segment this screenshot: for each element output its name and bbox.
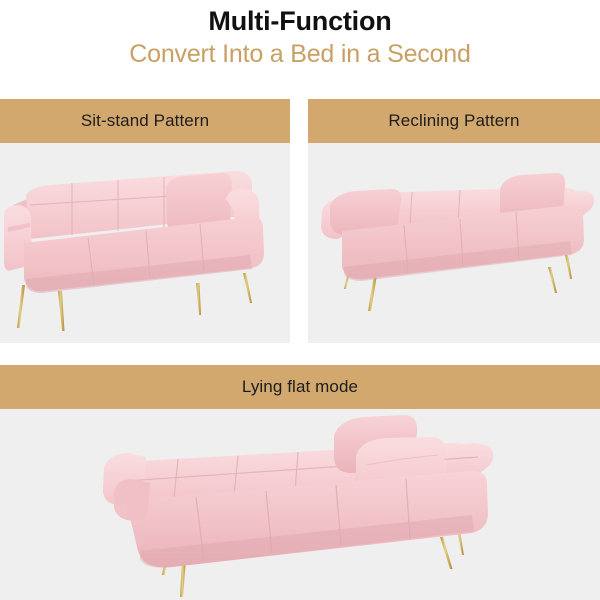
- label-bar-lying-flat: Lying flat mode: [0, 365, 600, 409]
- photo-sit-stand: [0, 143, 290, 343]
- label-bar-reclining: Reclining Pattern: [308, 99, 600, 143]
- sofa-illustration-sit-stand: [0, 143, 290, 343]
- panel-sit-stand: Sit-stand Pattern: [0, 99, 290, 343]
- panel-lying-flat: Lying flat mode: [0, 365, 600, 600]
- page-title: Multi-Function: [0, 6, 600, 36]
- header: Multi-Function Convert Into a Bed in a S…: [0, 0, 600, 70]
- panel-reclining: Reclining Pattern: [308, 99, 600, 343]
- panel-label-sit-stand: Sit-stand Pattern: [81, 111, 209, 131]
- top-panel-row: Sit-stand Pattern: [0, 99, 600, 343]
- label-bar-sit-stand: Sit-stand Pattern: [0, 99, 290, 143]
- panel-label-lying-flat: Lying flat mode: [242, 377, 358, 397]
- page-subtitle: Convert Into a Bed in a Second: [0, 38, 600, 70]
- photo-reclining: [308, 143, 600, 343]
- panel-gap: [290, 99, 308, 343]
- sofa-illustration-reclining: [308, 143, 600, 343]
- panel-label-reclining: Reclining Pattern: [388, 111, 519, 131]
- photo-lying-flat: [0, 409, 600, 600]
- sofa-illustration-lying-flat: [0, 409, 600, 600]
